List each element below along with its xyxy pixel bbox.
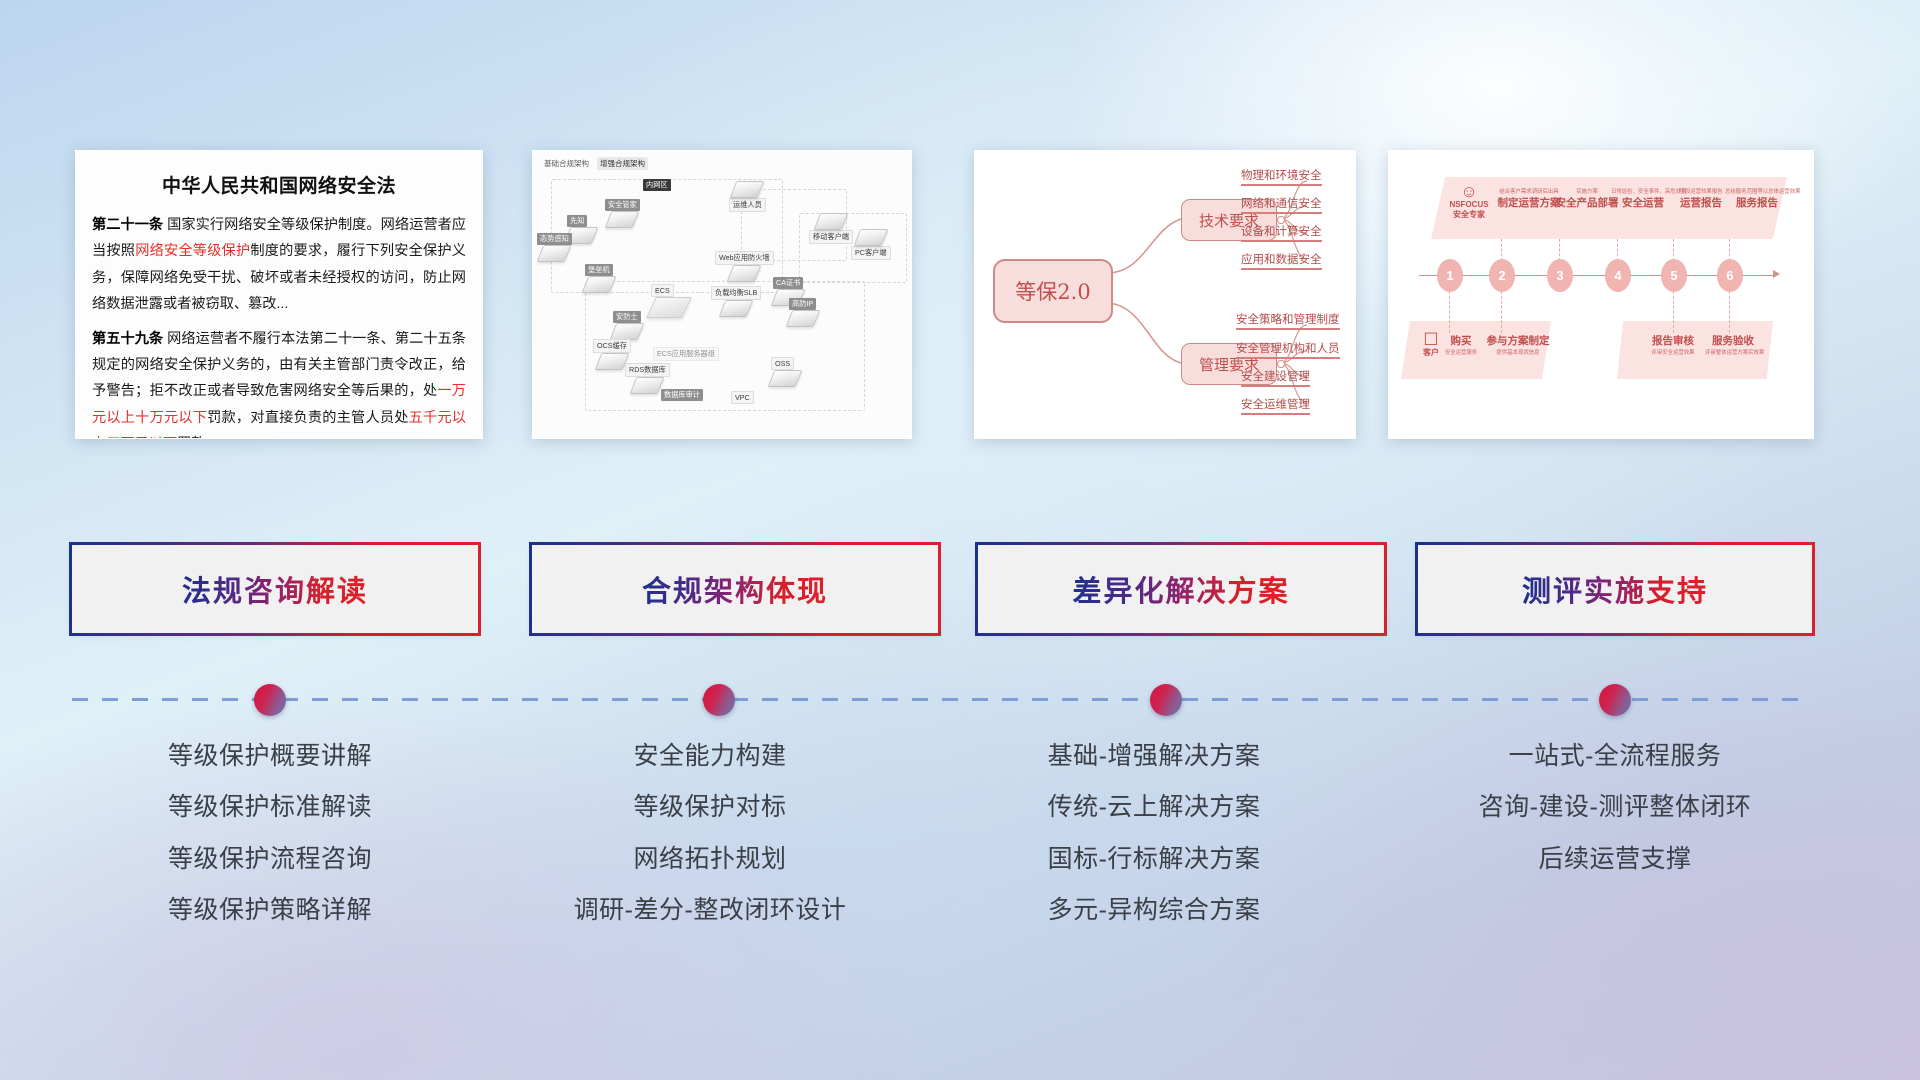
card-cybersecurity-law[interactable]: 中华人民共和国网络安全法 第二十一条 国家实行网络安全等级保护制度。网络运营者应…: [75, 150, 483, 439]
detail-column-assessment: 一站式-全流程服务 咨询-建设-测评整体闭环 后续运营支撑: [1400, 736, 1830, 890]
architecture-tabs[interactable]: 基础合规架构 增强合规架构: [541, 157, 648, 170]
mindmap-leaf: 设备和计算安全: [1241, 223, 1322, 242]
list-item: 等级保护概要讲解: [60, 736, 480, 777]
roadmap-step-title: 安全运营: [1611, 195, 1675, 210]
node-label-anfangshi: 安防士: [613, 311, 641, 323]
roadmap-bottom-step: 报告审核 评审安全运营效果: [1645, 333, 1701, 356]
banner-assessment-support[interactable]: 测评实施支持: [1418, 545, 1812, 633]
node-label-internal-zone: 内网区: [643, 179, 671, 191]
node-label-ca-cert: CA证书: [773, 277, 803, 289]
mindmap-root-node[interactable]: 等保2.0: [993, 259, 1113, 323]
tab-enhanced-architecture[interactable]: 增强合规架构: [597, 157, 648, 170]
node-slb: 负载均衡SLB: [711, 286, 761, 317]
roadmap-step-title: 参与方案制定: [1485, 333, 1551, 348]
server-cube-icon: [610, 323, 645, 340]
banner-label: 差异化解决方案: [1072, 568, 1289, 610]
roadmap-tick: [1501, 239, 1503, 261]
card-compliance-architecture[interactable]: 基础合规架构 增强合规架构 内网区 安全管家 先知 态势感知: [532, 150, 912, 439]
tab-basic-architecture[interactable]: 基础合规架构: [541, 157, 592, 170]
server-cube-icon: [582, 276, 617, 293]
node-db-audit: 数据库审计: [661, 389, 703, 401]
roadmap-top-step: 实施方案 安全产品部署: [1555, 187, 1619, 210]
list-item: 等级保护流程咨询: [60, 839, 480, 880]
roadmap-bottom-step: 服务验收 评审整体运营方案实效果: [1705, 333, 1761, 356]
roadmap-step-sub: 安全运营服务: [1437, 348, 1485, 356]
timeline: [0, 660, 1920, 740]
desktop-cube-icon: [853, 229, 888, 246]
node-anfangshi: 安防士: [613, 311, 641, 340]
node-label-slb: 负载均衡SLB: [711, 286, 761, 300]
law-title: 中华人民共和国网络安全法: [92, 171, 466, 198]
card-service-roadmap[interactable]: ☺ NSFOCUS 安全专家 ☐ 客户 结合客户需求调研后出具 制定运营方案 实…: [1388, 150, 1814, 439]
article-21-highlight: 网络安全等级保护: [135, 243, 250, 259]
roadmap-top-step: 日常巡检、安全事件、高危处置 安全运营: [1611, 187, 1675, 210]
node-label-security-steward: 安全管家: [605, 199, 640, 211]
node-label-oss: OSS: [771, 357, 794, 370]
detail-column-regulation: 等级保护概要讲解 等级保护标准解读 等级保护流程咨询 等级保护策略详解: [60, 736, 480, 941]
banner-compliance-architecture[interactable]: 合规架构体现: [532, 545, 938, 633]
article-21-label: 第二十一条: [92, 217, 163, 233]
roadmap-node[interactable]: 5: [1661, 259, 1687, 292]
roadmap-axis-arrow-icon: [1773, 270, 1780, 278]
node-label-rds: RDS数据库: [625, 363, 670, 377]
timeline-dot-4[interactable]: [1599, 684, 1631, 716]
roadmap-tick: [1729, 291, 1731, 333]
detail-lists: 等级保护概要讲解 等级保护标准解读 等级保护流程咨询 等级保护策略详解 安全能力…: [0, 736, 1920, 976]
security-expert-icon: ☺ NSFOCUS 安全专家: [1441, 183, 1497, 219]
roadmap-bottom-step: 购买 安全运营服务: [1437, 333, 1485, 356]
reference-image-row: 中华人民共和国网络安全法 第二十一条 国家实行网络安全等级保护制度。网络运营者应…: [0, 0, 1920, 460]
roadmap-tick: [1559, 239, 1561, 261]
roadmap-tick: [1673, 239, 1675, 261]
card-dengbao-mindmap[interactable]: 等保2.0 技术要求 管理要求 物理和环境安全 网络和通信安全 设备和计算安全 …: [974, 150, 1356, 439]
mobile-cube-icon: [814, 213, 849, 230]
list-item: 调研-差分-整改闭环设计: [500, 890, 920, 931]
node-bastion-host: 堡垒机: [585, 264, 613, 293]
banner-regulation-consulting[interactable]: 法规咨询解读: [72, 545, 478, 633]
roadmap-step-title: 服务验收: [1705, 333, 1761, 348]
person-star-glyph: ☺: [1441, 183, 1497, 200]
provider-name-line1: NSFOCUS: [1441, 200, 1497, 210]
node-label-ocs-cache: OCS缓存: [593, 339, 631, 353]
list-item: 安全能力构建: [500, 736, 920, 777]
mindmap-leaf: 安全管理机构和人员: [1236, 340, 1340, 359]
node-situational-awareness: 态势感知: [537, 233, 572, 262]
detail-column-architecture: 安全能力构建 等级保护对标 网络拓扑规划 调研-差分-整改闭环设计: [500, 736, 920, 941]
server-cube-icon: [786, 310, 821, 327]
server-cube-icon: [630, 377, 665, 394]
roadmap-step-sub: 日常巡检、安全事件、高危处置: [1611, 187, 1675, 195]
node-label-pc-client: PC客户端: [851, 246, 891, 260]
node-label-mobile-client: 移动客户端: [809, 230, 853, 244]
node-anti-ddos-ip: 高防IP: [789, 298, 817, 327]
roadmap-bottom-step: 参与方案制定 提供基本现状信息: [1485, 333, 1551, 356]
timeline-dot-2[interactable]: [703, 684, 735, 716]
list-item: 咨询-建设-测评整体闭环: [1400, 787, 1830, 828]
roadmap-tick: [1617, 239, 1619, 261]
mindmap-leaf: 安全策略和管理制度: [1236, 311, 1340, 330]
roadmap-diagram: ☺ NSFOCUS 安全专家 ☐ 客户 结合客户需求调研后出具 制定运营方案 实…: [1389, 151, 1813, 438]
law-body: 中华人民共和国网络安全法 第二十一条 国家实行网络安全等级保护制度。网络运营者应…: [76, 151, 482, 438]
mindmap-leaf: 网络和通信安全: [1241, 195, 1322, 214]
roadmap-step-sub: 实施方案: [1555, 187, 1619, 195]
banner-label: 法规咨询解读: [182, 568, 368, 610]
list-item: 等级保护对标: [500, 787, 920, 828]
roadmap-step-title: 制定运营方案: [1497, 195, 1561, 210]
server-slab-icon: [646, 297, 692, 318]
node-label-bastion-host: 堡垒机: [585, 264, 613, 276]
node-label-anti-ddos-ip: 高防IP: [789, 298, 816, 310]
roadmap-tick: [1501, 291, 1503, 333]
article-59-label: 第五十九条: [92, 331, 163, 347]
roadmap-step-sub: 结合客户需求调研后出具: [1497, 187, 1561, 195]
law-article-59: 第五十九条 网络运营者不履行本法第二十一条、第二十五条规定的网络安全保护义务的，…: [92, 326, 466, 439]
list-item: 基础-增强解决方案: [944, 736, 1364, 777]
node-label-ops-staff: 运维人员: [729, 198, 766, 212]
list-item: 一站式-全流程服务: [1400, 736, 1830, 777]
timeline-dot-3[interactable]: [1150, 684, 1182, 716]
banner-differentiated-solution[interactable]: 差异化解决方案: [978, 545, 1384, 633]
roadmap-step-sub: 提供基本现状信息: [1485, 348, 1551, 356]
node-oss: OSS: [771, 357, 799, 387]
roadmap-node[interactable]: 1: [1437, 259, 1463, 292]
roadmap-step-sub: 评审安全运营效果: [1645, 348, 1701, 356]
detail-column-solution: 基础-增强解决方案 传统-云上解决方案 国标-行标解决方案 多元-异构综合方案: [944, 736, 1364, 941]
server-cube-icon: [768, 370, 803, 387]
roadmap-top-step: 总结服务范围等以总体运营效果 服务报告: [1725, 187, 1789, 210]
mindmap: 等保2.0 技术要求 管理要求 物理和环境安全 网络和通信安全 设备和计算安全 …: [975, 151, 1355, 438]
roadmap-step-sub: 总结服务范围等以总体运营效果: [1725, 187, 1789, 195]
node-waf: Web应用防火墙: [715, 251, 774, 282]
roadmap-step-title: 服务报告: [1725, 195, 1789, 210]
provider-name-line2: 安全专家: [1441, 210, 1497, 220]
server-cube-icon: [727, 265, 762, 282]
banner-row: 法规咨询解读 合规架构体现 差异化解决方案 测评实施支持: [0, 545, 1920, 637]
list-item: 传统-云上解决方案: [944, 787, 1364, 828]
architecture-diagram: 基础合规架构 增强合规架构 内网区 安全管家 先知 态势感知: [533, 151, 911, 438]
article-59-text-c: 罚款。: [177, 436, 220, 439]
server-cube-icon: [537, 245, 572, 262]
list-item: 网络拓扑规划: [500, 839, 920, 880]
node-label-ecs-app-group: ECS应用服务器组: [653, 347, 719, 361]
roadmap-tick: [1729, 239, 1731, 261]
node-ecs: ECS: [651, 284, 687, 318]
roadmap-step-title: 报告审核: [1645, 333, 1701, 348]
mindmap-leaf: 安全运维管理: [1241, 396, 1310, 415]
node-pc-client: PC客户端: [851, 229, 891, 260]
list-item: 等级保护标准解读: [60, 787, 480, 828]
list-item: 国标-行标解决方案: [944, 839, 1364, 880]
server-cube-icon: [719, 300, 754, 317]
list-item: 后续运营支撑: [1400, 839, 1830, 880]
roadmap-step-title: 购买: [1437, 333, 1485, 348]
article-59-text-b: 罚款，对直接负责的主管人员处: [207, 410, 408, 426]
node-internal-zone: 内网区: [643, 179, 671, 191]
roadmap-top-step: 结合客户需求调研后出具 制定运营方案: [1497, 187, 1561, 210]
roadmap-step-sub: 评审整体运营方案实效果: [1705, 348, 1761, 356]
node-label-vpc: VPC: [731, 391, 754, 404]
node-label-situational-awareness: 态势感知: [537, 233, 572, 245]
roadmap-node[interactable]: 3: [1547, 259, 1573, 292]
timeline-dashed-line: [72, 698, 1812, 701]
node-mobile-client: 移动客户端: [809, 213, 853, 244]
node-ops-staff: 运维人员: [729, 181, 766, 212]
roadmap-tick: [1673, 291, 1675, 333]
list-item: 多元-异构综合方案: [944, 890, 1364, 931]
user-cube-icon: [730, 181, 765, 198]
banner-label: 合规架构体现: [642, 568, 828, 610]
banner-label: 测评实施支持: [1522, 568, 1708, 610]
mindmap-leaf: 安全建设管理: [1241, 368, 1310, 387]
mindmap-collapse-dot-management[interactable]: [1277, 360, 1285, 368]
law-article-21: 第二十一条 国家实行网络安全等级保护制度。网络运营者应当按照网络安全等级保护制度…: [92, 212, 466, 318]
roadmap-node[interactable]: 2: [1489, 259, 1515, 292]
roadmap-tick: [1449, 291, 1451, 333]
node-security-steward: 安全管家: [605, 199, 640, 228]
roadmap-node[interactable]: 4: [1605, 259, 1631, 292]
mindmap-leaf: 应用和数据安全: [1241, 251, 1322, 270]
roadmap-node[interactable]: 6: [1717, 259, 1743, 292]
server-cube-icon: [605, 211, 640, 228]
roadmap-step-title: 运营报告: [1669, 195, 1733, 210]
mindmap-leaf: 物理和环境安全: [1241, 167, 1322, 186]
node-vpc: VPC: [731, 391, 754, 404]
timeline-dot-1[interactable]: [254, 684, 286, 716]
list-item: 等级保护策略详解: [60, 890, 480, 931]
roadmap-top-step: 阶段运营效果报告 运营报告: [1669, 187, 1733, 210]
node-label-xianzhi: 先知: [567, 215, 587, 227]
node-label-ecs: ECS: [651, 284, 674, 297]
node-ecs-app-group: ECS应用服务器组: [653, 347, 719, 361]
node-label-db-audit: 数据库审计: [661, 389, 703, 401]
node-label-waf: Web应用防火墙: [715, 251, 774, 265]
roadmap-step-sub: 阶段运营效果报告: [1669, 187, 1733, 195]
roadmap-step-title: 安全产品部署: [1555, 195, 1619, 210]
